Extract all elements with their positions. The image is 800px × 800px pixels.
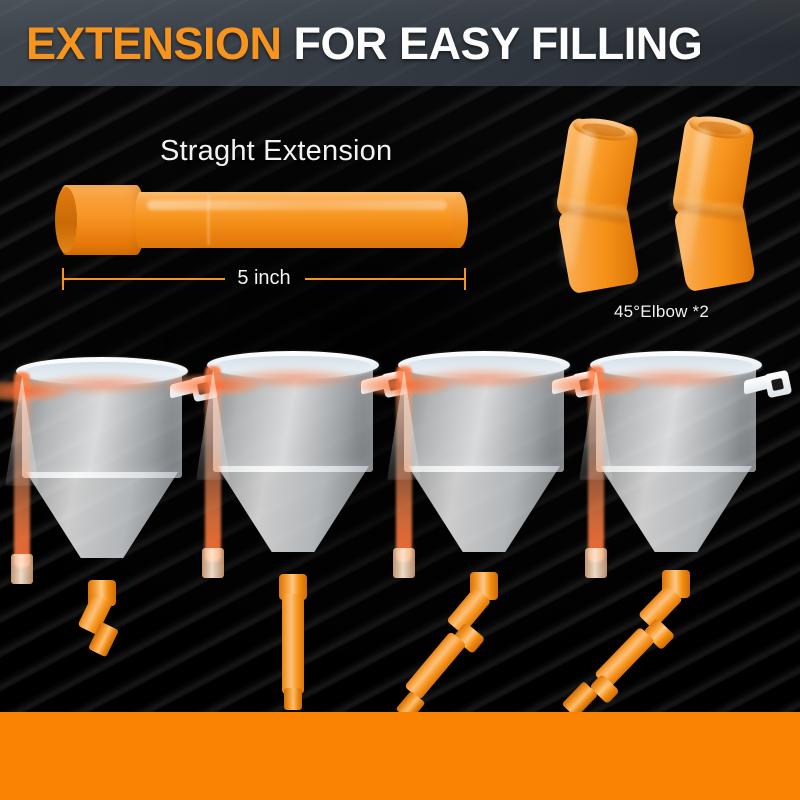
dimension-label: 5 inch: [237, 267, 290, 290]
product-feature-image: EXTENSION FOR EASY FILLING Straght Exten…: [0, 0, 800, 800]
tube-highlight: [147, 200, 447, 210]
page-title-highlight: EXTENSION: [26, 18, 282, 69]
spout-straight-extension: [282, 594, 304, 694]
funnel-neck: [585, 548, 607, 578]
straight-extension-tube: [57, 185, 465, 255]
funnel-hanging-tab: [744, 372, 790, 398]
spout-tip: [284, 688, 302, 710]
funnel-neck: [393, 548, 415, 578]
footer-band: No leakable sealed connection Multiple c…: [0, 712, 800, 800]
page-title-rest: FOR EASY FILLING: [282, 18, 703, 69]
dimension-line-right: [305, 278, 465, 280]
dimension-line-left: [63, 278, 225, 280]
page-title: EXTENSION FOR EASY FILLING: [26, 19, 702, 69]
straight-extension-label: Straght Extension: [160, 135, 392, 168]
header-band: EXTENSION FOR EASY FILLING: [0, 0, 800, 86]
tab-hole: [771, 378, 784, 391]
elbow-label: 45°Elbow *2: [614, 302, 709, 322]
tube-seam: [207, 195, 210, 245]
funnel-neck: [202, 548, 224, 578]
tube-collar: [57, 185, 145, 255]
dimension-line: 5 inch: [62, 268, 466, 290]
dimension-cap-right: [464, 268, 466, 290]
funnel-neck: [11, 554, 33, 584]
